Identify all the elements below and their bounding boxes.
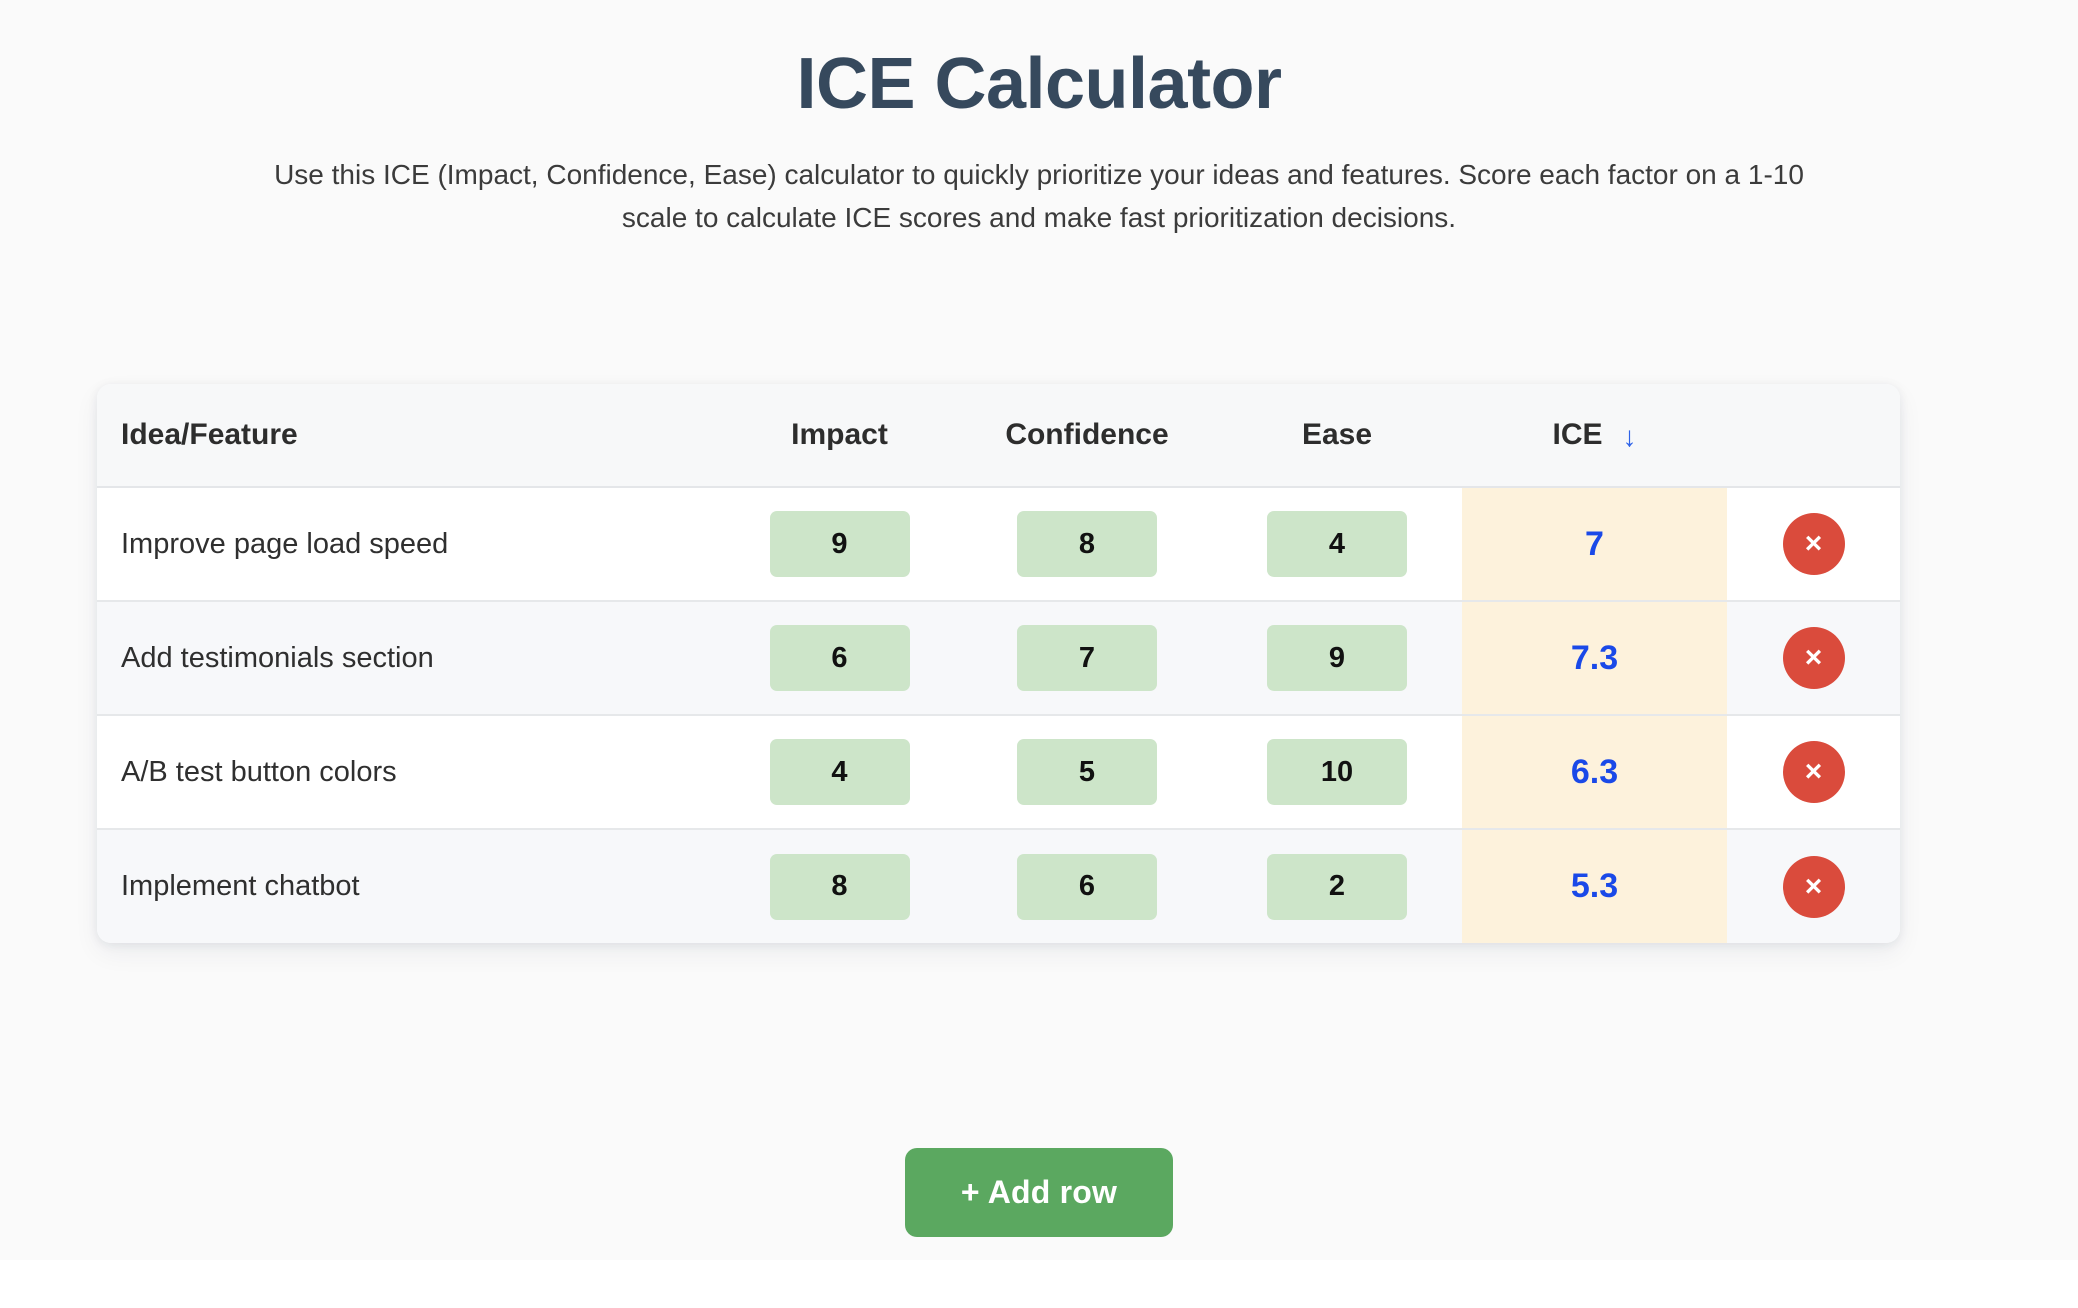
confidence-cell: 5 <box>962 715 1212 829</box>
impact-cell: 4 <box>717 715 962 829</box>
add-row-button[interactable]: + Add row <box>905 1148 1173 1237</box>
header-row: Idea/Feature Impact Confidence Ease ICE … <box>97 384 1900 487</box>
table-header: Idea/Feature Impact Confidence Ease ICE … <box>97 384 1900 487</box>
confidence-input[interactable]: 6 <box>1017 854 1157 920</box>
ice-header-inner: ICE ↓ <box>1552 418 1636 452</box>
ease-input[interactable]: 4 <box>1267 511 1407 577</box>
impact-input[interactable]: 4 <box>770 739 910 805</box>
footer-strip <box>0 1260 2078 1308</box>
idea-label[interactable]: Implement chatbot <box>97 829 717 943</box>
ice-score-value: 5.3 <box>1462 829 1727 943</box>
impact-input[interactable]: 6 <box>770 625 910 691</box>
actions-cell: × <box>1727 487 1900 601</box>
confidence-input[interactable]: 7 <box>1017 625 1157 691</box>
impact-cell: 8 <box>717 829 962 943</box>
ease-cell: 2 <box>1212 829 1462 943</box>
impact-cell: 9 <box>717 487 962 601</box>
confidence-cell: 8 <box>962 487 1212 601</box>
delete-row-button[interactable]: × <box>1783 627 1845 689</box>
sort-descending-arrow-icon[interactable]: ↓ <box>1623 423 1637 451</box>
ice-calculator-page: ICE Calculator Use this ICE (Impact, Con… <box>0 0 2078 1308</box>
idea-label[interactable]: A/B test button colors <box>97 715 717 829</box>
column-header-confidence[interactable]: Confidence <box>962 384 1212 487</box>
impact-cell: 6 <box>717 601 962 715</box>
column-header-idea[interactable]: Idea/Feature <box>97 384 717 487</box>
ease-cell: 4 <box>1212 487 1462 601</box>
ease-input[interactable]: 2 <box>1267 854 1407 920</box>
column-header-actions <box>1727 384 1900 487</box>
ease-input[interactable]: 10 <box>1267 739 1407 805</box>
table-row: A/B test button colors 4 5 10 6.3 × <box>97 715 1900 829</box>
table-row: Improve page load speed 9 8 4 7 × <box>97 487 1900 601</box>
delete-row-button[interactable]: × <box>1783 513 1845 575</box>
ice-score-value: 7.3 <box>1462 601 1727 715</box>
column-header-ease[interactable]: Ease <box>1212 384 1462 487</box>
table-row: Add testimonials section 6 7 9 7.3 × <box>97 601 1900 715</box>
delete-row-button[interactable]: × <box>1783 856 1845 918</box>
ice-score-value: 7 <box>1462 487 1727 601</box>
actions-cell: × <box>1727 601 1900 715</box>
confidence-cell: 6 <box>962 829 1212 943</box>
delete-row-button[interactable]: × <box>1783 741 1845 803</box>
ice-header-label: ICE <box>1552 418 1602 452</box>
table-body: Improve page load speed 9 8 4 7 × <box>97 487 1900 943</box>
column-header-impact[interactable]: Impact <box>717 384 962 487</box>
page-title: ICE Calculator <box>0 0 2078 125</box>
actions-cell: × <box>1727 829 1900 943</box>
ice-score-value: 6.3 <box>1462 715 1727 829</box>
actions-cell: × <box>1727 715 1900 829</box>
table-row: Implement chatbot 8 6 2 5.3 × <box>97 829 1900 943</box>
ease-cell: 10 <box>1212 715 1462 829</box>
add-row-container: + Add row <box>0 1148 2078 1237</box>
ice-table: Idea/Feature Impact Confidence Ease ICE … <box>97 384 1900 943</box>
ice-table-card: Idea/Feature Impact Confidence Ease ICE … <box>97 384 1900 943</box>
confidence-cell: 7 <box>962 601 1212 715</box>
impact-input[interactable]: 8 <box>770 854 910 920</box>
column-header-ice[interactable]: ICE ↓ <box>1462 384 1727 487</box>
idea-label[interactable]: Add testimonials section <box>97 601 717 715</box>
ease-cell: 9 <box>1212 601 1462 715</box>
confidence-input[interactable]: 5 <box>1017 739 1157 805</box>
impact-input[interactable]: 9 <box>770 511 910 577</box>
idea-label[interactable]: Improve page load speed <box>97 487 717 601</box>
ease-input[interactable]: 9 <box>1267 625 1407 691</box>
page-subtitle: Use this ICE (Impact, Confidence, Ease) … <box>239 153 1839 240</box>
confidence-input[interactable]: 8 <box>1017 511 1157 577</box>
